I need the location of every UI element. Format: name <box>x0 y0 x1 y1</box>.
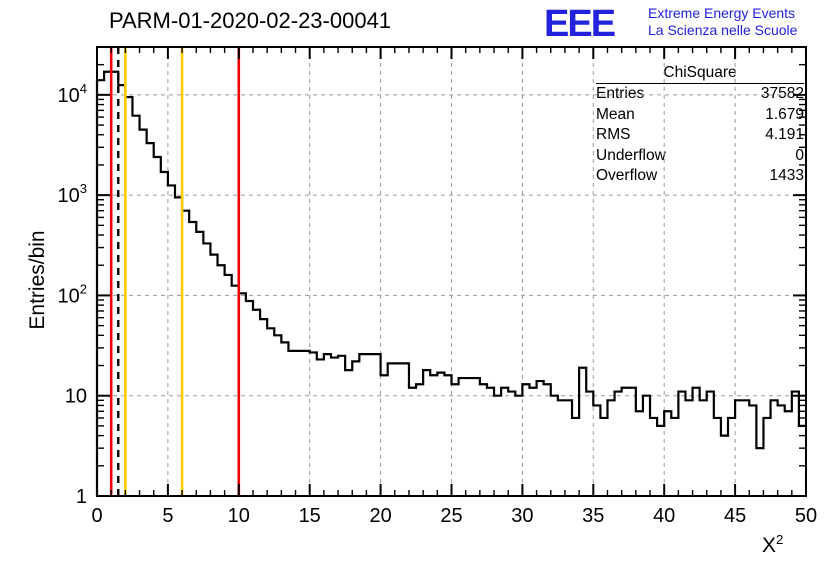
x-tick-label: 45 <box>724 505 746 527</box>
grid-lines <box>97 47 806 496</box>
x-tick-label: 5 <box>162 505 173 527</box>
marker-lines <box>111 47 239 496</box>
x-tick-label: 0 <box>91 505 102 527</box>
y-tick-label: 103 <box>58 181 87 207</box>
histogram-plot: 05101520253035404550110102103104 <box>0 0 836 572</box>
root-canvas: PARM-01-2020-02-23-00041 EEE Extreme Ene… <box>0 0 836 572</box>
x-tick-label: 30 <box>511 505 533 527</box>
x-axis-ticks: 05101520253035404550 <box>91 47 817 527</box>
x-tick-label: 10 <box>228 505 250 527</box>
y-tick-label: 102 <box>58 281 87 307</box>
y-tick-label: 1 <box>76 486 87 508</box>
y-axis-ticks: 110102103104 <box>58 47 806 508</box>
x-tick-label: 15 <box>299 505 321 527</box>
x-tick-label: 20 <box>369 505 391 527</box>
y-tick-label: 104 <box>58 81 87 107</box>
y-tick-label: 10 <box>65 386 87 408</box>
x-tick-label: 40 <box>653 505 675 527</box>
x-tick-label: 50 <box>795 505 817 527</box>
x-tick-label: 35 <box>582 505 604 527</box>
x-tick-label: 25 <box>440 505 462 527</box>
